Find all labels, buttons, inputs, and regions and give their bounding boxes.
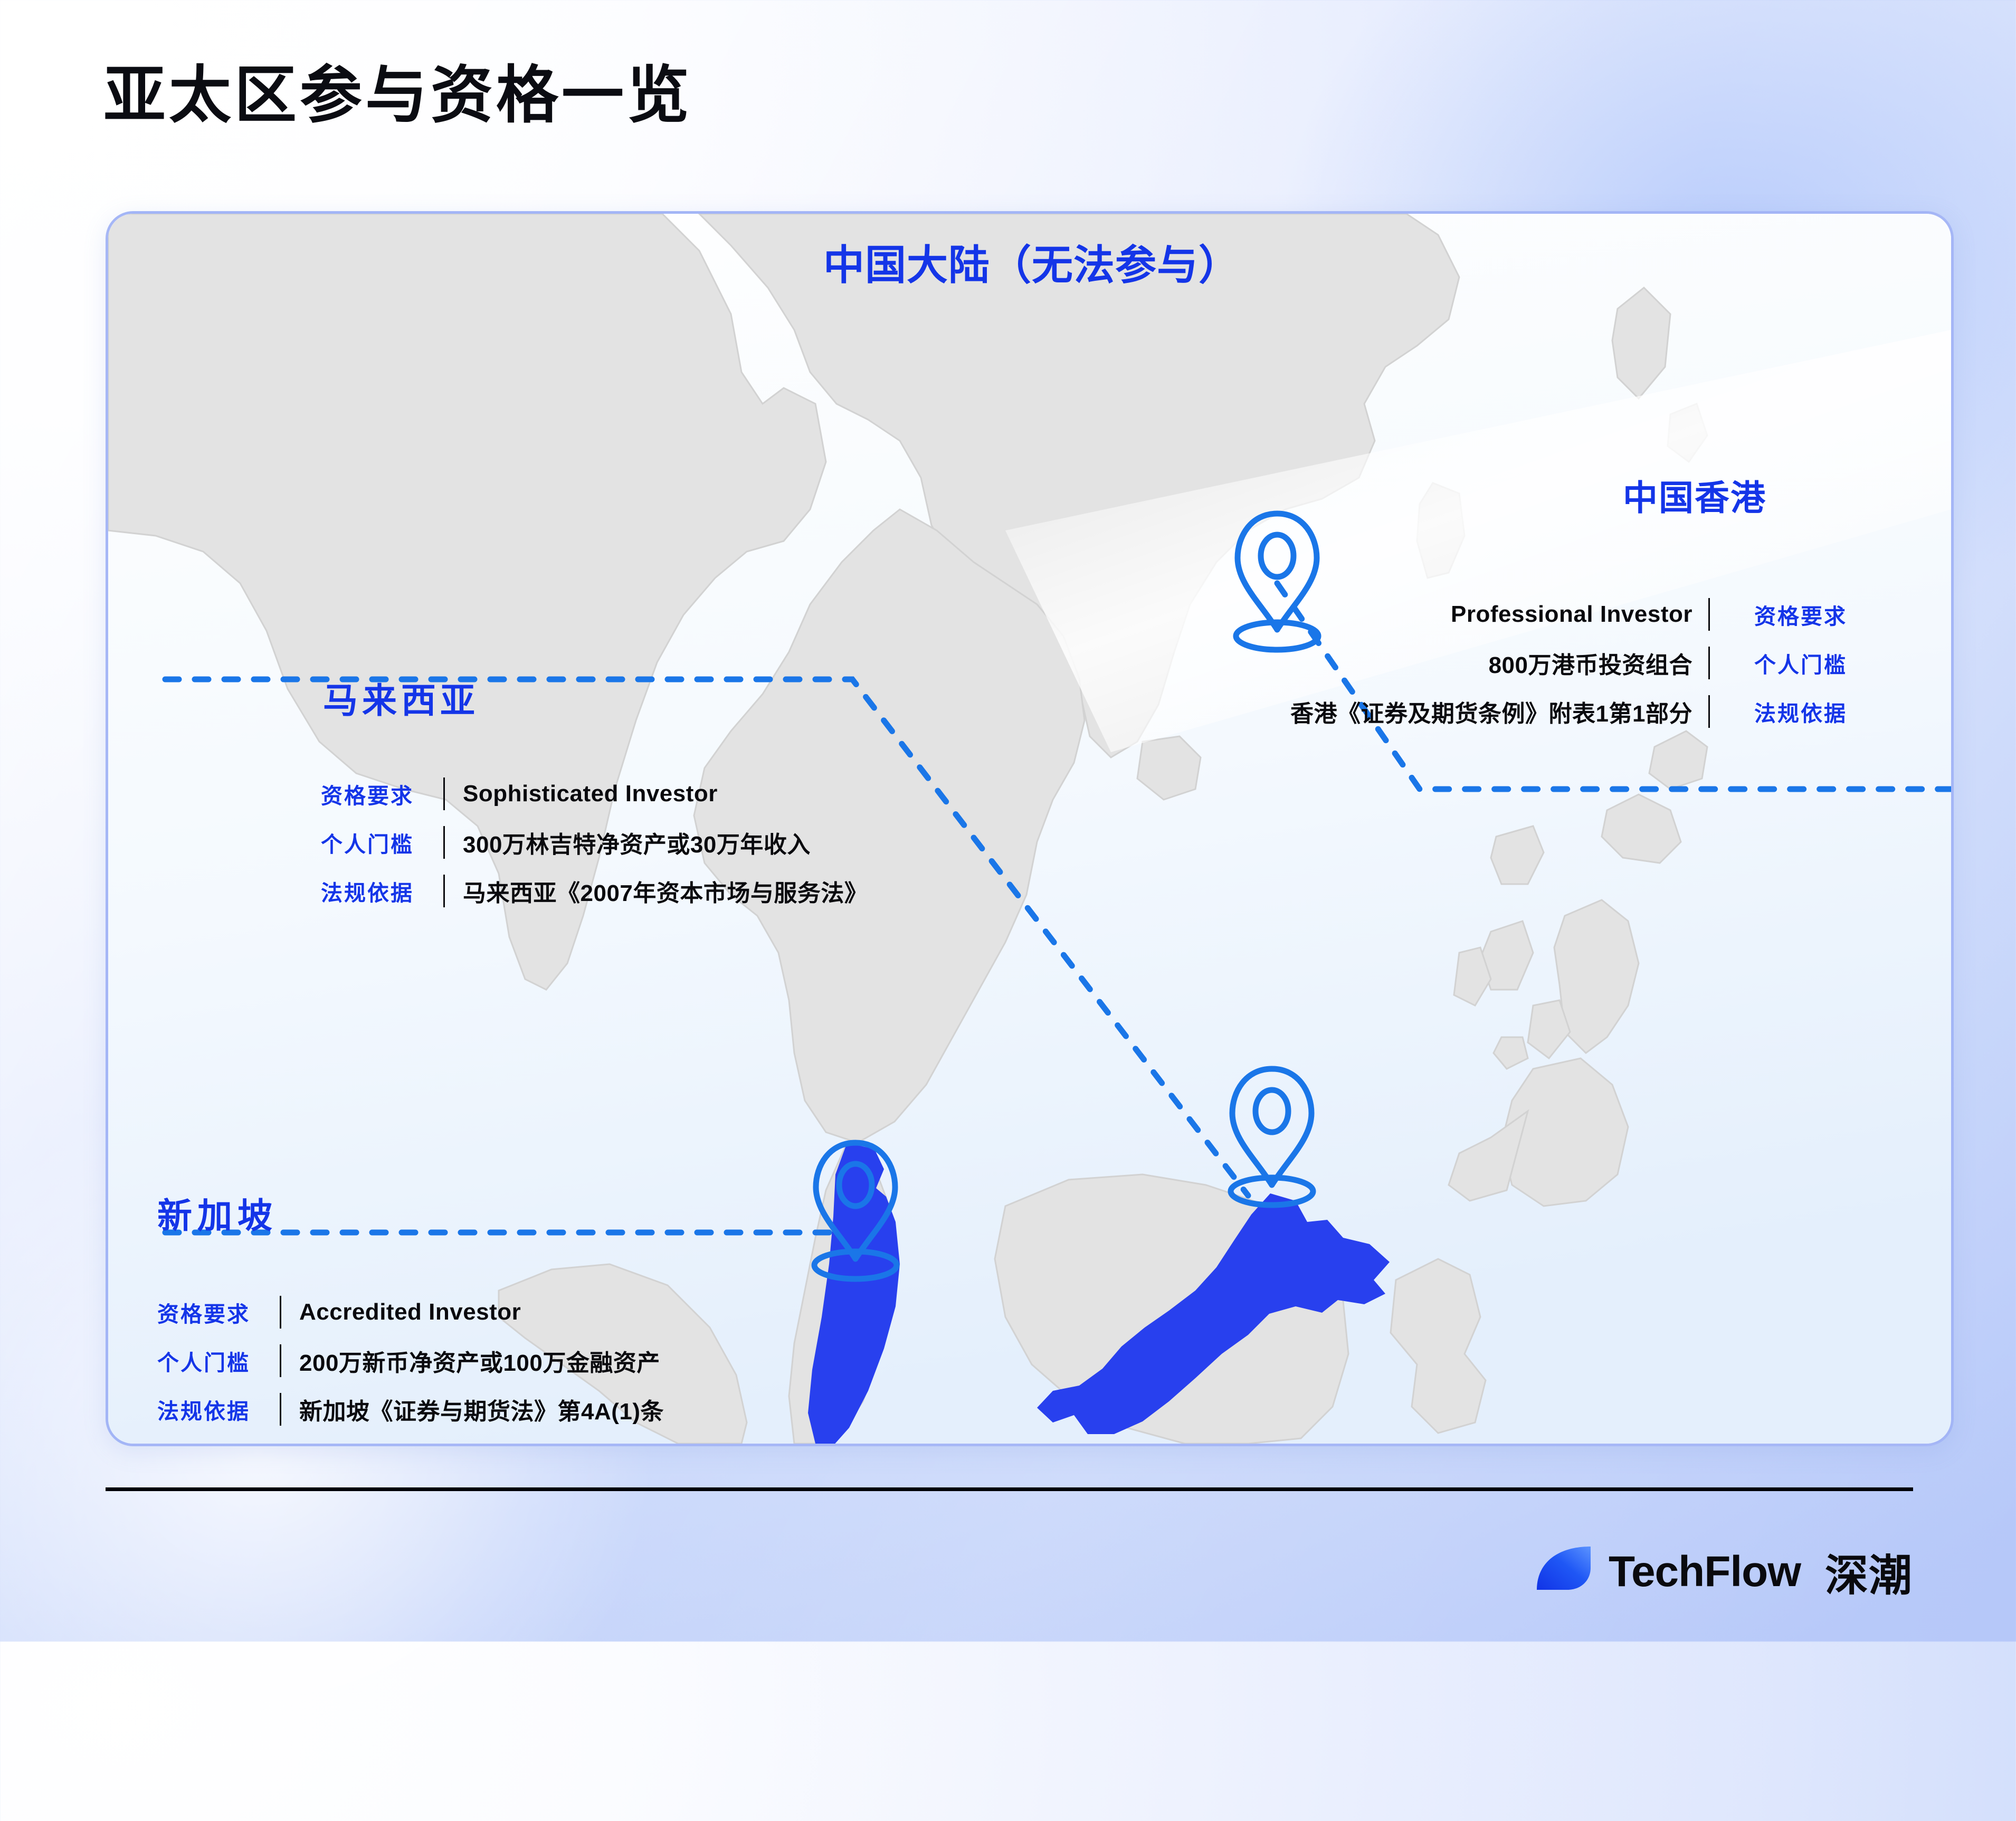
row-separator [443,777,445,810]
info-value: 200万新币净资产或100万金融资产 [299,1344,660,1378]
row-separator [1708,695,1710,728]
info-value: 新加坡《证券与期货法》第4A(1)条 [299,1392,664,1426]
row-separator [1708,647,1710,679]
row-separator [443,875,445,907]
info-key: 法规依据 [321,875,443,907]
info-row: 香港《证券及期货条例》附表1第1部分 法规依据 [1182,687,1847,736]
brand-lockup: TechFlow 深潮 [1536,1540,1913,1603]
info-key: 资格要求 [1726,599,1847,630]
info-key: 资格要求 [321,778,443,810]
row-separator [443,826,445,859]
label-malaysia: 马来西亚 [323,672,479,723]
label-singapore: 新加坡 [157,1188,278,1238]
info-value: Accredited Investor [299,1299,521,1325]
info-row: Professional Investor 资格要求 [1182,590,1847,639]
info-value: 300万林吉特净资产或30万年收入 [463,826,811,859]
info-block-singapore: 资格要求 Accredited Investor 个人门槛 200万新币净资产或… [157,1288,664,1434]
info-value: 马来西亚《2007年资本市场与服务法》 [463,874,868,908]
footer-divider [106,1487,1913,1491]
info-value: Sophisticated Investor [463,781,718,807]
info-value: 800万港币投资组合 [1489,646,1692,680]
info-key: 个人门槛 [321,827,443,858]
info-row: 800万港币投资组合 个人门槛 [1182,639,1847,687]
row-separator [280,1393,281,1426]
label-china-mainland: 中国大陆（无法参与） [823,232,1240,291]
techflow-logo-icon [1536,1544,1593,1599]
info-key: 资格要求 [157,1296,280,1328]
row-separator [280,1296,281,1329]
page-title: 亚太区参与资格一览 [103,62,692,129]
info-value: 香港《证券及期货条例》附表1第1部分 [1290,695,1692,728]
info-key: 个人门槛 [157,1345,280,1377]
info-key: 法规依据 [1726,696,1847,727]
info-block-malaysia: 资格要求 Sophisticated Investor 个人门槛 300万林吉特… [321,770,868,915]
row-separator [1708,598,1710,631]
info-row: 个人门槛 200万新币净资产或100万金融资产 [157,1336,664,1385]
info-block-hong-kong: Professional Investor 资格要求 800万港币投资组合 个人… [1182,590,1847,736]
info-row: 资格要求 Sophisticated Investor [321,770,868,818]
info-value: Professional Investor [1451,601,1692,628]
row-separator [280,1344,281,1377]
brand-name-cn: 深潮 [1825,1540,1913,1603]
info-row: 法规依据 新加坡《证券与期货法》第4A(1)条 [157,1385,664,1434]
info-row: 法规依据 马来西亚《2007年资本市场与服务法》 [321,867,868,915]
info-row: 个人门槛 300万林吉特净资产或30万年收入 [321,818,868,867]
info-key: 个人门槛 [1726,647,1847,679]
label-hong-kong: 中国香港 [1623,470,1766,520]
brand-name: TechFlow [1609,1547,1801,1597]
info-key: 法规依据 [157,1393,280,1425]
info-row: 资格要求 Accredited Investor [157,1288,664,1336]
